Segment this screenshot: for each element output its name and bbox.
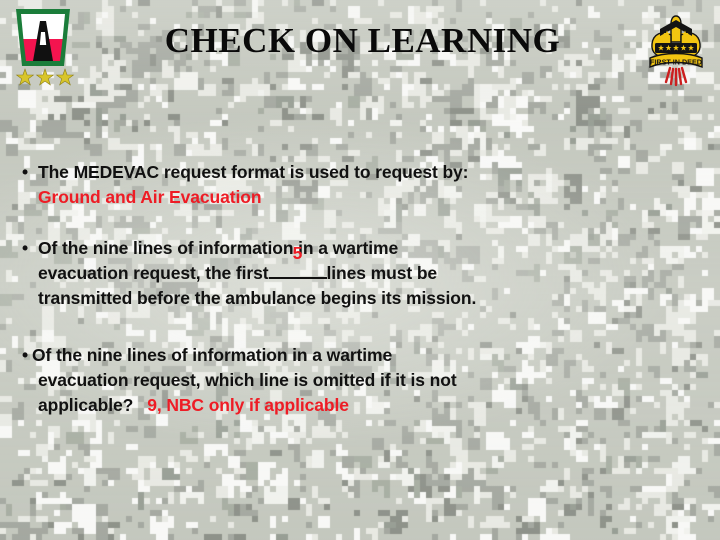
slide-header: CHECK ON LEARNING <box>0 0 720 100</box>
bullet-text: applicable? <box>38 395 133 415</box>
blank-answer-text: 5 <box>269 245 327 262</box>
page-title: CHECK ON LEARNING <box>110 20 615 62</box>
bullet-text: Of the nine lines of information in a wa… <box>38 238 398 258</box>
blank-underline <box>269 265 327 279</box>
slide-body: •The MEDEVAC request format is used to r… <box>0 160 720 418</box>
bullet-line: transmitted before the ambulance begins … <box>22 286 702 311</box>
bullet-line: •Of the nine lines of information in a w… <box>22 236 702 261</box>
first-in-deed-crest-logo: FIRST IN DEED <box>640 8 712 90</box>
bullet-text-after-blank: lines must be <box>327 263 438 283</box>
bullet-marker: • <box>22 236 38 261</box>
bullet-answer-row: Ground and Air Evacuation <box>38 185 702 210</box>
bullet-text: Of the nine lines of information in a wa… <box>32 345 392 365</box>
bullet-omitted-line: •Of the nine lines of information in a w… <box>0 343 720 418</box>
crest-motto-text: FIRST IN DEED <box>650 57 702 66</box>
answer-text: Ground and Air Evacuation <box>38 187 261 207</box>
bullet-text: transmitted before the ambulance begins … <box>38 288 476 308</box>
first-army-patch-logo <box>8 6 84 90</box>
bullet-line: •The MEDEVAC request format is used to r… <box>22 160 702 185</box>
bullet-text: evacuation request, which line is omitte… <box>38 370 457 390</box>
bullet-text: evacuation request, the first <box>38 263 269 283</box>
bullet-line-with-answer: applicable?9, NBC only if applicable <box>22 393 702 418</box>
bullet-first-lines-transmitted: •Of the nine lines of information in a w… <box>0 236 720 311</box>
bullet-marker: • <box>22 343 32 368</box>
answer-text: 9, NBC only if applicable <box>147 395 349 415</box>
bullet-line-with-blank: evacuation request, the first5lines must… <box>22 261 702 286</box>
bullet-line: evacuation request, which line is omitte… <box>22 368 702 393</box>
slide-check-on-learning: CHECK ON LEARNING <box>0 0 720 540</box>
bullet-medevac-format: •The MEDEVAC request format is used to r… <box>0 160 720 210</box>
fill-in-blank: 5 <box>269 261 327 286</box>
bullet-marker: • <box>22 160 38 185</box>
bullet-text: The MEDEVAC request format is used to re… <box>38 162 468 182</box>
bullet-line: •Of the nine lines of information in a w… <box>22 343 702 368</box>
